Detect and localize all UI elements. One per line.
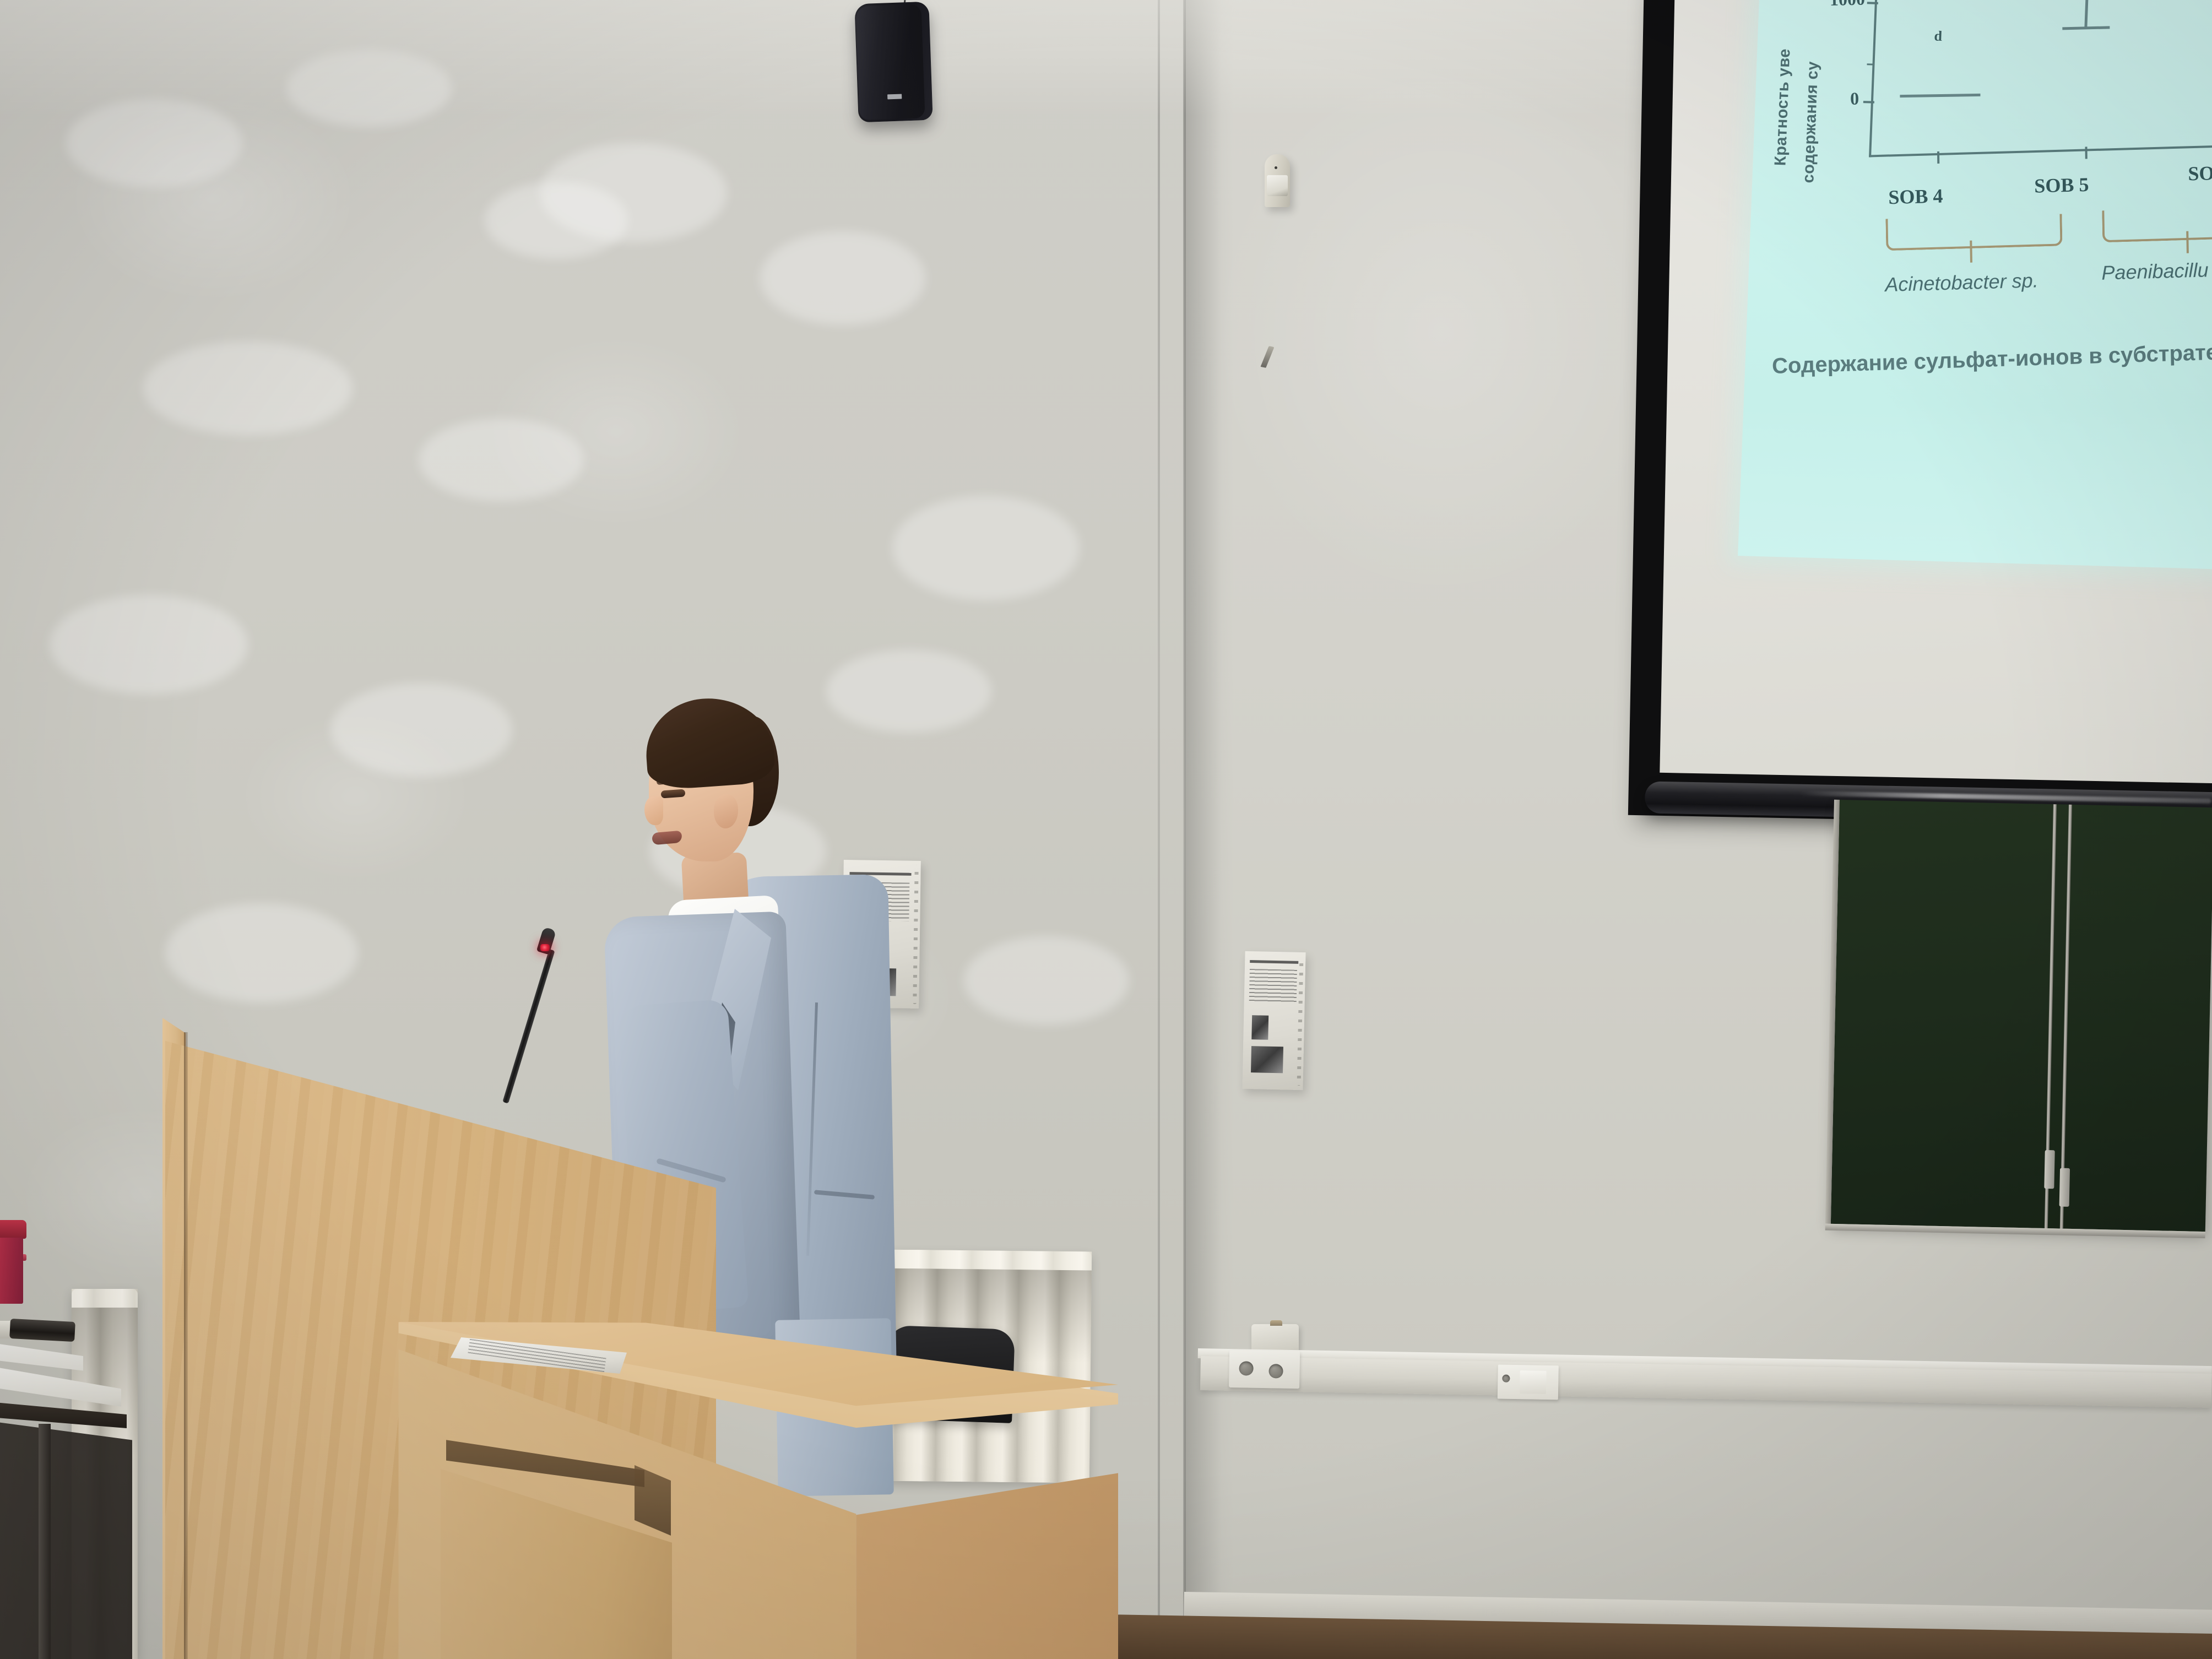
chart-xlabel-sob4: SOB 4 — [1888, 184, 1943, 209]
poster-photo-1 — [1252, 1015, 1269, 1040]
speaker-grille-icon — [855, 4, 925, 120]
pa-speaker — [854, 2, 932, 123]
nose — [644, 796, 663, 825]
light-switch-plate[interactable] — [1498, 1364, 1559, 1400]
chart-ytick-0 — [1863, 101, 1874, 104]
chart-y-axis — [1869, 0, 1883, 158]
red-apparatus-cap — [0, 1220, 26, 1239]
light-switch-rocker[interactable] — [1520, 1370, 1547, 1394]
switch-indicator-icon — [1502, 1375, 1510, 1382]
socket-hole-left-icon — [1239, 1361, 1253, 1375]
chart-xlabel-sob9: SOB 9 — [2188, 161, 2212, 186]
chalkboard-slide-handle-2[interactable] — [2059, 1168, 2070, 1207]
chart-ytick-1000 — [1867, 2, 1878, 4]
left-table-body — [0, 1421, 132, 1659]
black-valve-handle[interactable] — [9, 1319, 75, 1342]
chart-group-label-paenibacillus: Paenibacillu — [2101, 258, 2209, 284]
power-socket-double[interactable] — [1229, 1350, 1300, 1389]
chart-box-sob4 — [1900, 94, 1980, 97]
projected-slide: Кратность уве содержания су 2000 1000 0 … — [1738, 0, 2212, 571]
chart-ytick-label-1000: 1000 — [1830, 0, 1866, 10]
chart-group-label-acinetobacter: Acinetobacter sp. — [1885, 269, 2038, 296]
left-table-leg — [39, 1424, 51, 1659]
lecture-hall-photo: Кратность уве содержания су 2000 1000 0 … — [0, 0, 2212, 1659]
microphone-led-icon — [540, 944, 550, 951]
slide-caption: Содержание сульфат-ионов в субстрате без — [1772, 339, 2212, 379]
chart-xtick-sob4 — [1937, 151, 1939, 164]
hair — [643, 694, 777, 791]
poster-photo-2 — [1251, 1046, 1283, 1073]
red-apparatus-body — [0, 1238, 23, 1304]
chart-ylabel-line2: содержания су — [1799, 0, 1828, 183]
chart-xlabel-sob5: SOB 5 — [2034, 173, 2089, 198]
chart-ytick-label-0: 0 — [1850, 89, 1859, 109]
chart-group-brace-acinetobacter — [1885, 214, 2062, 251]
chart-group-brace-tip-2 — [2186, 231, 2189, 253]
speaker-badge — [887, 94, 902, 100]
chart-xtick-sob5 — [2085, 147, 2087, 159]
chart-group-brace-paenibacillus — [2102, 205, 2212, 242]
chalkboard — [1831, 800, 2212, 1232]
radiator-top-cap — [72, 1289, 138, 1308]
motion-detector-lens-icon — [1267, 175, 1288, 196]
chart-group-brace-tip-1 — [1970, 241, 1972, 263]
motion-detector-sensor — [1265, 154, 1290, 207]
sleeve-punch-holes-icon — [913, 865, 919, 1004]
wall-poster-lower — [1242, 951, 1305, 1090]
sleeve-punch-holes-icon — [1297, 957, 1304, 1086]
slide-chart: Кратность уве содержания су 2000 1000 0 … — [1738, 0, 2212, 571]
wall-seam-a — [1158, 0, 1160, 1659]
chart-whisker-sob5-low — [2084, 0, 2089, 29]
poster-title-bar — [1250, 960, 1298, 964]
lectern-panel-edge — [184, 1032, 188, 1659]
chart-sig-letter-sob4: d — [1934, 28, 1943, 45]
chart-ylabel-line1: Кратность уве — [1771, 0, 1799, 166]
poster-text-lines — [1249, 969, 1297, 1004]
chart-whisker-cap-sob5-low — [2062, 26, 2110, 30]
chart-x-axis — [1869, 143, 2212, 158]
chalkboard-slide-handle[interactable] — [2044, 1150, 2054, 1189]
chart-ytick-minor-2 — [1867, 63, 1874, 65]
socket-hole-right-icon — [1268, 1364, 1283, 1378]
motion-detector-led-icon — [1275, 166, 1277, 169]
junction-box-screw-icon — [1270, 1320, 1282, 1326]
wall-corner-shadow — [1184, 0, 1234, 1659]
chalkboard-panel-divider-2 — [2060, 805, 2072, 1229]
wall-corner-edge — [1183, 0, 1186, 1659]
